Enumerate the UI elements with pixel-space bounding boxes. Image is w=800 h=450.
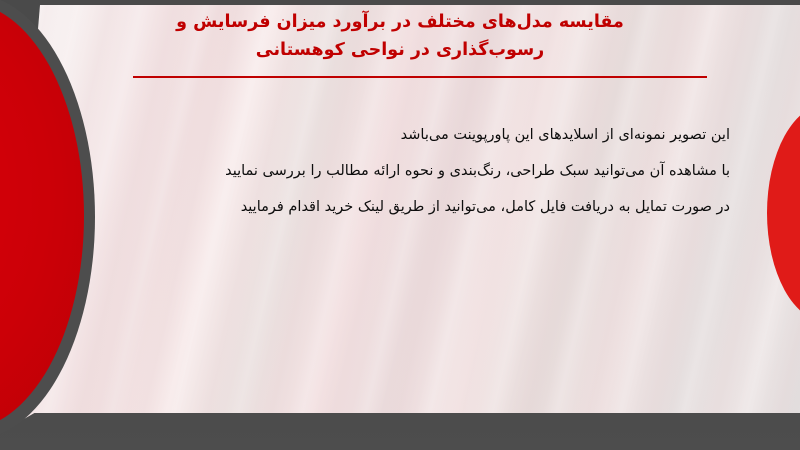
slide-body: این تصویر نمونه‌ای از اسلایدهای این پاور… [100, 118, 730, 226]
body-line-3: در صورت تمایل به دریافت فایل کامل، می‌تو… [100, 190, 730, 226]
slide-title: مقایسه مدل‌های مختلف در برآورد میزان فرس… [95, 8, 705, 65]
body-line-2: با مشاهده آن می‌توانید سبک طراحی، رنگ‌بن… [100, 154, 730, 190]
title-underline-rule [133, 76, 707, 78]
slide-canvas: مقایسه مدل‌های مختلف در برآورد میزان فرس… [0, 0, 800, 450]
body-line-1: این تصویر نمونه‌ای از اسلایدهای این پاور… [100, 118, 730, 154]
